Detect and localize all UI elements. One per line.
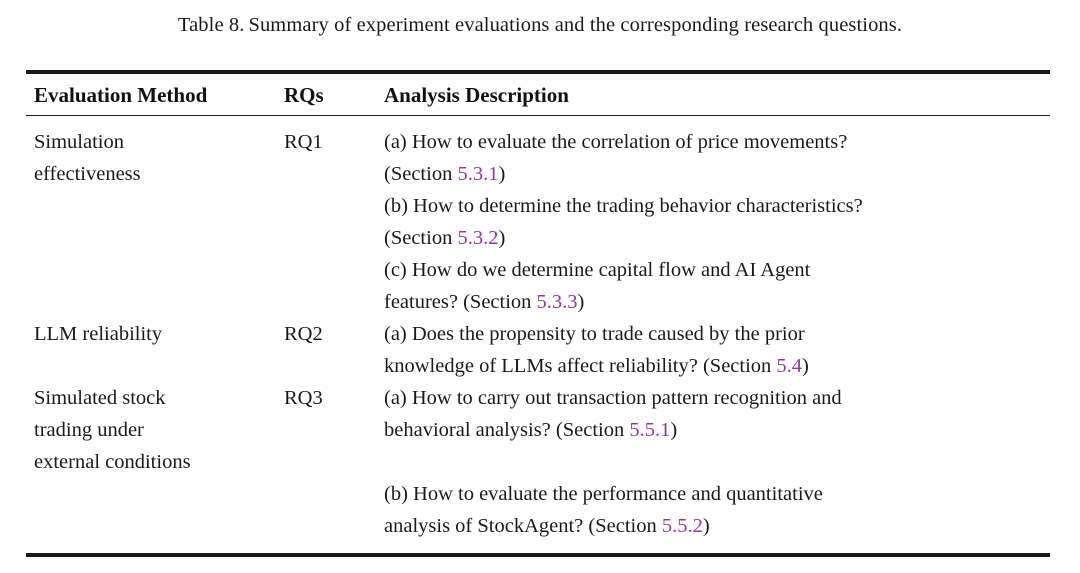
cell-rq: RQ1: [284, 126, 384, 158]
description-line: (Section 5.3.2): [384, 222, 1050, 254]
description-line: (a) Does the propensity to trade caused …: [384, 318, 1050, 350]
method-line: external conditions: [34, 446, 284, 478]
section-reference-link[interactable]: 5.3.3: [537, 291, 578, 313]
description-text: ): [802, 355, 809, 377]
table-8: Evaluation Method RQs Analysis Descripti…: [26, 70, 1050, 557]
description-text: analysis of StockAgent? (Section: [384, 515, 662, 537]
description-line: (b) How to evaluate the performance and …: [384, 478, 1050, 510]
description-line: (a) How to evaluate the correlation of p…: [384, 126, 1050, 158]
description-text: ): [703, 515, 710, 537]
section-reference-link[interactable]: 5.5.2: [662, 515, 703, 537]
description-text: behavioral analysis? (Section: [384, 419, 629, 441]
description-text: (c) How do we determine capital flow and…: [384, 259, 810, 281]
cell-evaluation-method: LLM reliability: [26, 318, 284, 350]
method-line: Simulation: [34, 126, 284, 158]
description-text: ): [670, 419, 677, 441]
table-body: SimulationeffectivenessRQ1(a) How to eva…: [26, 116, 1050, 553]
description-line: (a) How to carry out transaction pattern…: [384, 382, 1050, 414]
cell-analysis-description: (a) How to carry out transaction pattern…: [384, 382, 1050, 542]
section-reference-link[interactable]: 5.5.1: [629, 419, 670, 441]
section-reference-link[interactable]: 5.3.2: [457, 227, 498, 249]
cell-evaluation-method: Simulationeffectiveness: [26, 126, 284, 190]
table-bottom-rule: [26, 553, 1050, 557]
description-line: analysis of StockAgent? (Section 5.5.2): [384, 510, 1050, 542]
column-header-evaluation-method: Evaluation Method: [26, 82, 284, 108]
description-text: (b) How to evaluate the performance and …: [384, 483, 823, 505]
description-blank-line: [384, 446, 1050, 478]
table-caption-text: Summary of experiment evaluations and th…: [248, 14, 902, 36]
method-line: effectiveness: [34, 158, 284, 190]
description-line: features? (Section 5.3.3): [384, 286, 1050, 318]
cell-rq: RQ2: [284, 318, 384, 350]
description-line: (Section 5.3.1): [384, 158, 1050, 190]
description-text: features? (Section: [384, 291, 537, 313]
cell-evaluation-method: Simulated stocktrading underexternal con…: [26, 382, 284, 478]
description-text: (a) Does the propensity to trade caused …: [384, 323, 805, 345]
description-text: (Section: [384, 227, 457, 249]
table-row: LLM reliabilityRQ2(a) Does the propensit…: [26, 318, 1050, 382]
description-line: (b) How to determine the trading behavio…: [384, 190, 1050, 222]
table-caption: Table 8.Summary of experiment evaluation…: [0, 12, 1080, 38]
method-line: Simulated stock: [34, 382, 284, 414]
cell-rq: RQ3: [284, 382, 384, 414]
column-header-analysis-description: Analysis Description: [384, 82, 1050, 108]
description-text: (Section: [384, 163, 457, 185]
section-reference-link[interactable]: 5.3.1: [457, 163, 498, 185]
description-text: ): [498, 227, 505, 249]
description-text: (a) How to carry out transaction pattern…: [384, 387, 842, 409]
cell-analysis-description: (a) Does the propensity to trade caused …: [384, 318, 1050, 382]
description-line: (c) How do we determine capital flow and…: [384, 254, 1050, 286]
description-text: (a) How to evaluate the correlation of p…: [384, 131, 847, 153]
description-line: knowledge of LLMs affect reliability? (S…: [384, 350, 1050, 382]
method-line: trading under: [34, 414, 284, 446]
description-text: (b) How to determine the trading behavio…: [384, 195, 863, 217]
description-text: ): [578, 291, 585, 313]
table-header-row: Evaluation Method RQs Analysis Descripti…: [26, 74, 1050, 115]
description-text: ): [498, 163, 505, 185]
table-row: SimulationeffectivenessRQ1(a) How to eva…: [26, 126, 1050, 318]
column-header-rqs: RQs: [284, 82, 384, 108]
method-line: LLM reliability: [34, 318, 284, 350]
cell-analysis-description: (a) How to evaluate the correlation of p…: [384, 126, 1050, 318]
table-figure-page: Table 8.Summary of experiment evaluation…: [0, 0, 1080, 573]
table-caption-number: Table 8.: [178, 14, 245, 36]
section-reference-link[interactable]: 5.4: [776, 355, 802, 377]
description-line: behavioral analysis? (Section 5.5.1): [384, 414, 1050, 446]
description-text: knowledge of LLMs affect reliability? (S…: [384, 355, 776, 377]
table-row: Simulated stocktrading underexternal con…: [26, 382, 1050, 542]
